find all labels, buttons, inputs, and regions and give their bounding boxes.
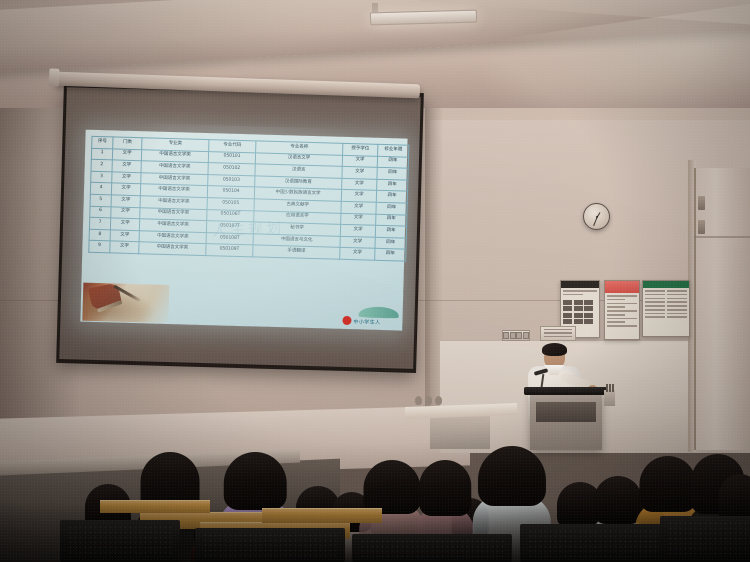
poster-line <box>667 309 687 311</box>
seatback-3 <box>352 534 512 562</box>
cell-degree: 文学 <box>341 190 376 203</box>
student-hair <box>639 456 696 512</box>
cell-years: 四年 <box>377 156 408 168</box>
poster-line <box>645 294 665 296</box>
poster-line <box>667 290 687 292</box>
cell-years: 四年 <box>375 237 406 249</box>
col-header-no: 序号 <box>92 136 113 148</box>
student-hair <box>419 460 471 516</box>
screenshot-root: 人生规划 序号 门类 专业类 专业代码 专业名称 授予学位 修业年限 <box>0 0 750 562</box>
seatback-perforation <box>203 533 337 557</box>
poster-line <box>563 294 583 296</box>
poster-line <box>607 299 625 301</box>
poster-line <box>607 325 637 327</box>
poster-header <box>561 281 599 288</box>
poster-line <box>563 290 597 292</box>
cell-category: 文学 <box>111 183 140 195</box>
poster-line <box>607 314 625 316</box>
cell-degree: 文学 <box>342 167 377 180</box>
cell-degree: 文学 <box>340 236 375 249</box>
student-hair <box>363 460 420 514</box>
poster-body <box>561 288 599 295</box>
wall-poster-middle <box>604 280 640 340</box>
cell-degree: 文学 <box>340 224 375 237</box>
cell-category: 文学 <box>112 160 141 172</box>
poster-line <box>645 301 665 303</box>
majors-table: 序号 门类 专业类 专业代码 专业名称 授予学位 修业年限 1文学中国语言文学类… <box>88 136 409 262</box>
student-hair <box>224 452 287 510</box>
presenter-hair <box>542 343 567 356</box>
poster-columns <box>643 288 689 322</box>
clock-center-pin <box>596 216 598 218</box>
poster-line <box>667 313 687 315</box>
light-mount <box>372 3 378 12</box>
cell-no: 6 <box>90 206 111 218</box>
col-header-degree: 授予学位 <box>343 143 378 156</box>
cell-no: 9 <box>89 241 110 253</box>
projector-screen[interactable]: 人生规划 序号 门类 专业类 专业代码 专业名称 授予学位 修业年限 <box>56 83 424 373</box>
cell-major-code: 050109T <box>206 244 253 257</box>
seatback-perforation <box>668 521 750 557</box>
cell-no: 8 <box>89 229 110 241</box>
slide-decorative-ink-painting <box>82 283 169 323</box>
projected-slide: 人生规划 序号 门类 专业类 专业代码 专业名称 授予学位 修业年限 <box>80 130 407 331</box>
cell-years: 四年 <box>376 202 407 214</box>
poster-line <box>607 295 637 297</box>
door-hinge-icon <box>698 196 705 210</box>
cell-category: 文学 <box>111 206 140 218</box>
poster-line <box>645 298 665 300</box>
seatback-5 <box>660 516 750 562</box>
projector-screen-surface: 人生规划 序号 门类 专业类 专业代码 专业名称 授予学位 修业年限 <box>59 87 420 369</box>
cell-major-name: 手语翻译 <box>253 245 340 259</box>
poster-line <box>607 303 637 305</box>
cell-category: 文学 <box>112 149 141 161</box>
poster-column <box>645 290 665 320</box>
poster-line <box>667 316 687 318</box>
cell-category: 文学 <box>110 241 139 253</box>
fluorescent-light-icon <box>370 10 477 26</box>
logo-swoosh-icon <box>359 306 399 318</box>
slide-content: 人生规划 序号 门类 专业类 专业代码 专业名称 授予学位 修业年限 <box>80 130 407 331</box>
cell-category: 文学 <box>110 230 139 242</box>
cell-no: 2 <box>91 160 112 172</box>
desk-row-mid-left <box>100 500 210 513</box>
poster-line <box>607 306 625 308</box>
student-hair <box>594 476 642 524</box>
cell-no: 5 <box>90 194 111 206</box>
poster-line <box>667 298 687 300</box>
logo-badge-icon <box>342 316 351 325</box>
student-hair <box>478 446 546 506</box>
col-header-cat: 门类 <box>113 137 142 149</box>
screen-pull-knob-icon[interactable] <box>49 68 60 86</box>
seatback-perforation <box>360 539 504 557</box>
wall-switch-panel[interactable] <box>502 330 530 341</box>
seatback-4 <box>520 524 670 562</box>
door-top-edge <box>694 236 750 238</box>
poster-line <box>607 310 637 312</box>
poster-line <box>667 294 687 296</box>
poster-header <box>643 281 689 288</box>
cell-no: 7 <box>89 217 110 229</box>
cell-no: 4 <box>90 183 111 195</box>
cell-years: 四年 <box>376 214 407 226</box>
wall-clock-icon <box>583 203 610 230</box>
poster-line <box>607 321 625 323</box>
clock-minute-hand <box>593 217 597 226</box>
logo-text: 中小学生人 <box>353 318 380 326</box>
poster-line <box>607 318 637 320</box>
majors-table-body: 1文学中国语言文学类050101汉语言文学文学四年2文学中国语言文学类05010… <box>89 148 409 261</box>
seatback-perforation <box>528 529 662 557</box>
poster-line <box>645 309 665 311</box>
cell-no: 1 <box>91 148 112 160</box>
cell-category: 文学 <box>112 172 141 184</box>
cell-degree: 文学 <box>340 248 375 261</box>
cell-no: 3 <box>91 171 112 183</box>
seatback-2 <box>195 528 345 562</box>
col-header-years: 修业年限 <box>378 144 409 156</box>
cell-degree: 文学 <box>341 201 376 214</box>
poster-header <box>605 281 639 293</box>
poster-line <box>667 305 687 307</box>
poster-body <box>605 293 639 327</box>
cell-years: 四年 <box>377 179 408 191</box>
door-hinge-icon <box>698 220 705 234</box>
wall-poster-right <box>642 280 690 337</box>
cell-degree: 文学 <box>342 155 377 168</box>
cell-years: 四年 <box>376 191 407 203</box>
cell-years: 四年 <box>375 249 406 261</box>
poster-line <box>667 301 687 303</box>
poster-line <box>645 290 665 292</box>
poster-column <box>667 290 687 320</box>
poster-line <box>645 305 665 307</box>
cell-years: 四年 <box>377 167 408 179</box>
slide-logo: 中小学生人 <box>342 306 399 328</box>
wall-plaque <box>540 326 576 341</box>
cell-major-class: 中国语言文学类 <box>139 242 206 255</box>
desk-row-front-right <box>262 508 382 523</box>
seatback-perforation <box>68 525 172 557</box>
poster-line <box>645 316 665 318</box>
cell-category: 文学 <box>110 218 139 230</box>
cell-degree: 文学 <box>341 213 376 226</box>
seatback-1 <box>60 520 180 562</box>
cell-category: 文学 <box>111 195 140 207</box>
cell-years: 四年 <box>375 225 406 237</box>
poster-line <box>645 313 665 315</box>
poster-cell-grid <box>561 298 599 327</box>
cell-degree: 文学 <box>342 178 377 191</box>
